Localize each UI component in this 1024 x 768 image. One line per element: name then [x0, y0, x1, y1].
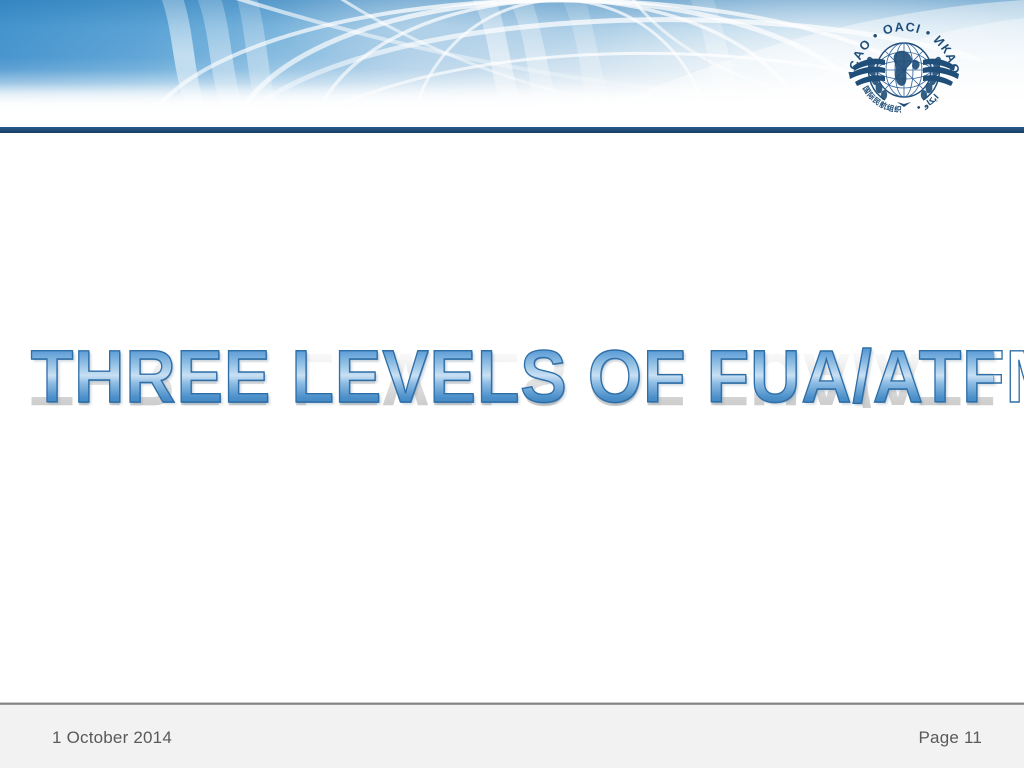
- footer-divider-rule: [0, 702, 1024, 705]
- slide-title-outline: THREE LEVELS OF FUA/ATFM: [31, 340, 994, 414]
- icao-emblem-icon: ICAO • OACI • ИКАО 国际民航组织 • ايكاو: [845, 12, 963, 122]
- presentation-slide: ICAO • OACI • ИКАО 国际民航组织 • ايكاو: [0, 0, 1024, 768]
- slide-title-block: THREE LEVELS OF FUA/ATFM THREE LEVELS OF…: [0, 340, 1024, 470]
- header-divider-bar: [0, 127, 1024, 133]
- footer-date: 1 October 2014: [52, 728, 172, 748]
- footer-page-number: Page 11: [919, 728, 982, 748]
- icao-logo: ICAO • OACI • ИКАО 国际民航组织 • ايكاو: [845, 12, 963, 122]
